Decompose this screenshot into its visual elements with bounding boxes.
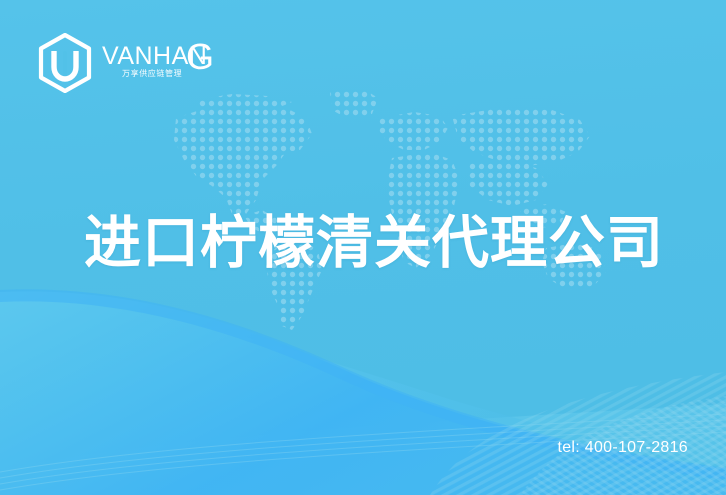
brand-wordmark: VANHAN G 万享供应链管理 bbox=[102, 42, 220, 84]
contact-phone[interactable]: tel: 400-107-2816 bbox=[557, 439, 688, 457]
wordmark-tail-letter: G bbox=[186, 39, 214, 75]
promo-banner: VANHAN G 万享供应链管理 进口柠檬清关代理公司 tel: 400-107… bbox=[0, 0, 726, 495]
headline-title: 进口柠檬清关代理公司 bbox=[84, 212, 664, 275]
hexagon-u-logo-icon bbox=[36, 33, 94, 93]
brand-subtitle: 万享供应链管理 bbox=[122, 68, 182, 79]
brand-logo[interactable]: VANHAN G 万享供应链管理 bbox=[36, 33, 220, 93]
